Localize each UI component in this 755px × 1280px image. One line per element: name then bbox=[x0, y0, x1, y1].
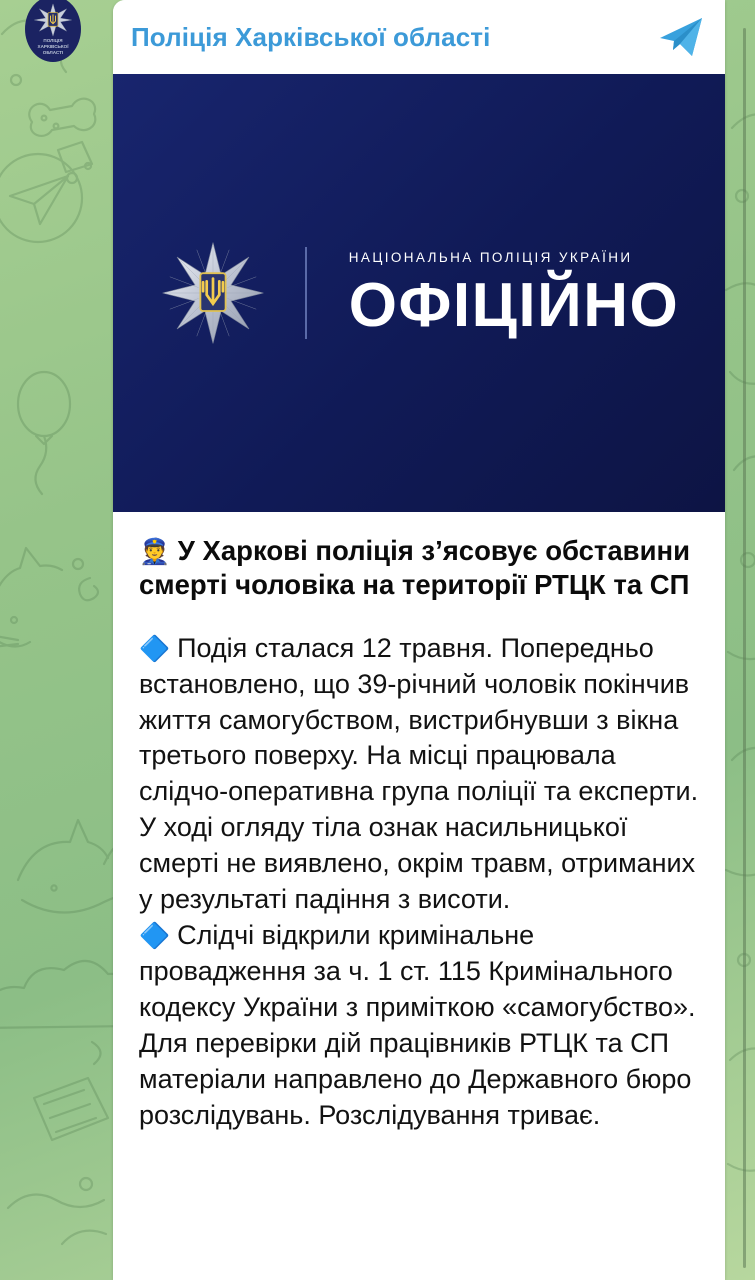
message-header: Поліція Харківської області bbox=[113, 0, 725, 74]
avatar-text-line3: ОБЛАСТІ bbox=[43, 50, 63, 55]
post-paragraph: 🔷 Слідчі відкрили кримінальне провадженн… bbox=[139, 918, 701, 1026]
post-paragraph-text: У ході огляду тіла ознак насильницької с… bbox=[139, 812, 695, 914]
post-text-body: 👮 У Харкові поліція з’ясовує обставини с… bbox=[113, 512, 725, 1163]
post-paragraph: 🔷 Подія сталася 12 травня. Попередньо вс… bbox=[139, 631, 701, 811]
avatar-text-line2: ХАРКІВСЬКОЇ bbox=[38, 43, 70, 49]
post-title: 👮 У Харкові поліція з’ясовує обставини с… bbox=[139, 534, 701, 603]
avatar[interactable]: ПОЛІЦІЯ ХАРКІВСЬКОЇ ОБЛАСТІ bbox=[20, 0, 86, 62]
blue-diamond-emoji: 🔷 bbox=[139, 922, 177, 950]
blue-diamond-emoji: 🔷 bbox=[139, 635, 177, 663]
telegram-paper-plane-icon[interactable] bbox=[655, 11, 707, 63]
post-paragraph-text: Подія сталася 12 травня. Попередньо вста… bbox=[139, 633, 698, 807]
avatar-police-emblem-icon: ПОЛІЦІЯ ХАРКІВСЬКОЇ ОБЛАСТІ bbox=[20, 0, 86, 62]
channel-title[interactable]: Поліція Харківської області bbox=[131, 24, 655, 50]
banner-title: ОФІЦІЙНО bbox=[349, 277, 679, 336]
police-officer-emoji: 👮 bbox=[139, 538, 170, 566]
message-bubble[interactable]: Поліція Харківської області bbox=[113, 0, 725, 1280]
post-paragraph-list: 🔷 Подія сталася 12 травня. Попередньо вс… bbox=[139, 631, 701, 1134]
post-paragraph: У ході огляду тіла ознак насильницької с… bbox=[139, 810, 701, 918]
post-paragraph-text: Слідчі відкрили кримінальне провадження … bbox=[139, 920, 695, 1022]
post-paragraph-text: Для перевірки дій працівників РТЦК та СП… bbox=[139, 1028, 691, 1130]
post-title-text: У Харкові поліція з’ясовує обставини сме… bbox=[139, 535, 690, 600]
post-paragraph: Для перевірки дій працівників РТЦК та СП… bbox=[139, 1026, 701, 1134]
avatar-text-line1: ПОЛІЦІЯ bbox=[43, 38, 62, 43]
banner-divider bbox=[305, 247, 307, 339]
vertical-scrollbar[interactable] bbox=[743, 28, 746, 1268]
police-star-tryzub-icon bbox=[159, 239, 267, 347]
post-banner-image[interactable]: НАЦІОНАЛЬНА ПОЛІЦІЯ УКРАЇНИ ОФІЦІЙНО bbox=[113, 74, 725, 512]
banner-subtitle: НАЦІОНАЛЬНА ПОЛІЦІЯ УКРАЇНИ bbox=[349, 250, 679, 265]
